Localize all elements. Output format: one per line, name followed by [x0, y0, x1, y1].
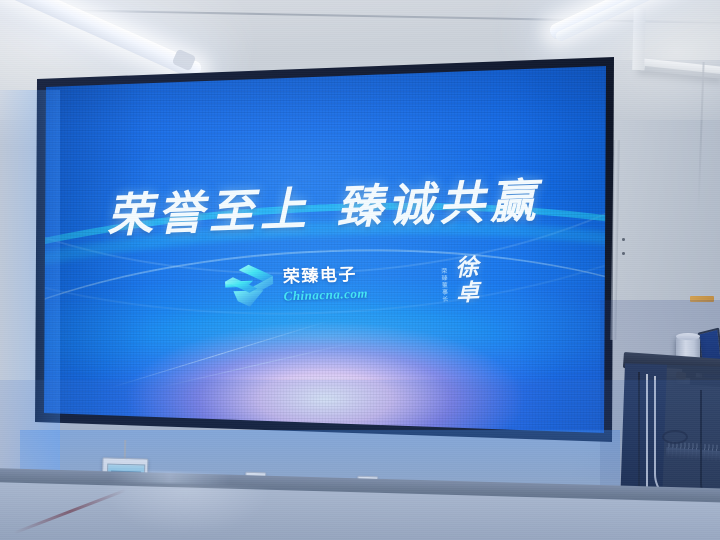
led-screen-display[interactable]: [34, 54, 616, 446]
ceiling-partition-face: [632, 8, 646, 70]
screen-arc-2: [34, 54, 616, 331]
cable-black-2: [700, 390, 716, 500]
wall-screw-lower: [622, 252, 625, 255]
screen-vignette: [34, 54, 616, 446]
cylindrical-speaker-top: [676, 333, 700, 340]
screen-arc-thin: [34, 235, 616, 446]
cable-coil: [662, 430, 688, 444]
screen-arc-glow: [34, 199, 616, 446]
wall-sticker-label: [690, 296, 714, 302]
screenshot-root: 荣誉至上臻诚共赢: [0, 0, 720, 540]
screen-arc-1: [34, 54, 616, 290]
screen-arc-cyan: [34, 183, 616, 446]
led-pixel-grid: [34, 54, 616, 446]
wall-screw-upper: [622, 238, 625, 241]
